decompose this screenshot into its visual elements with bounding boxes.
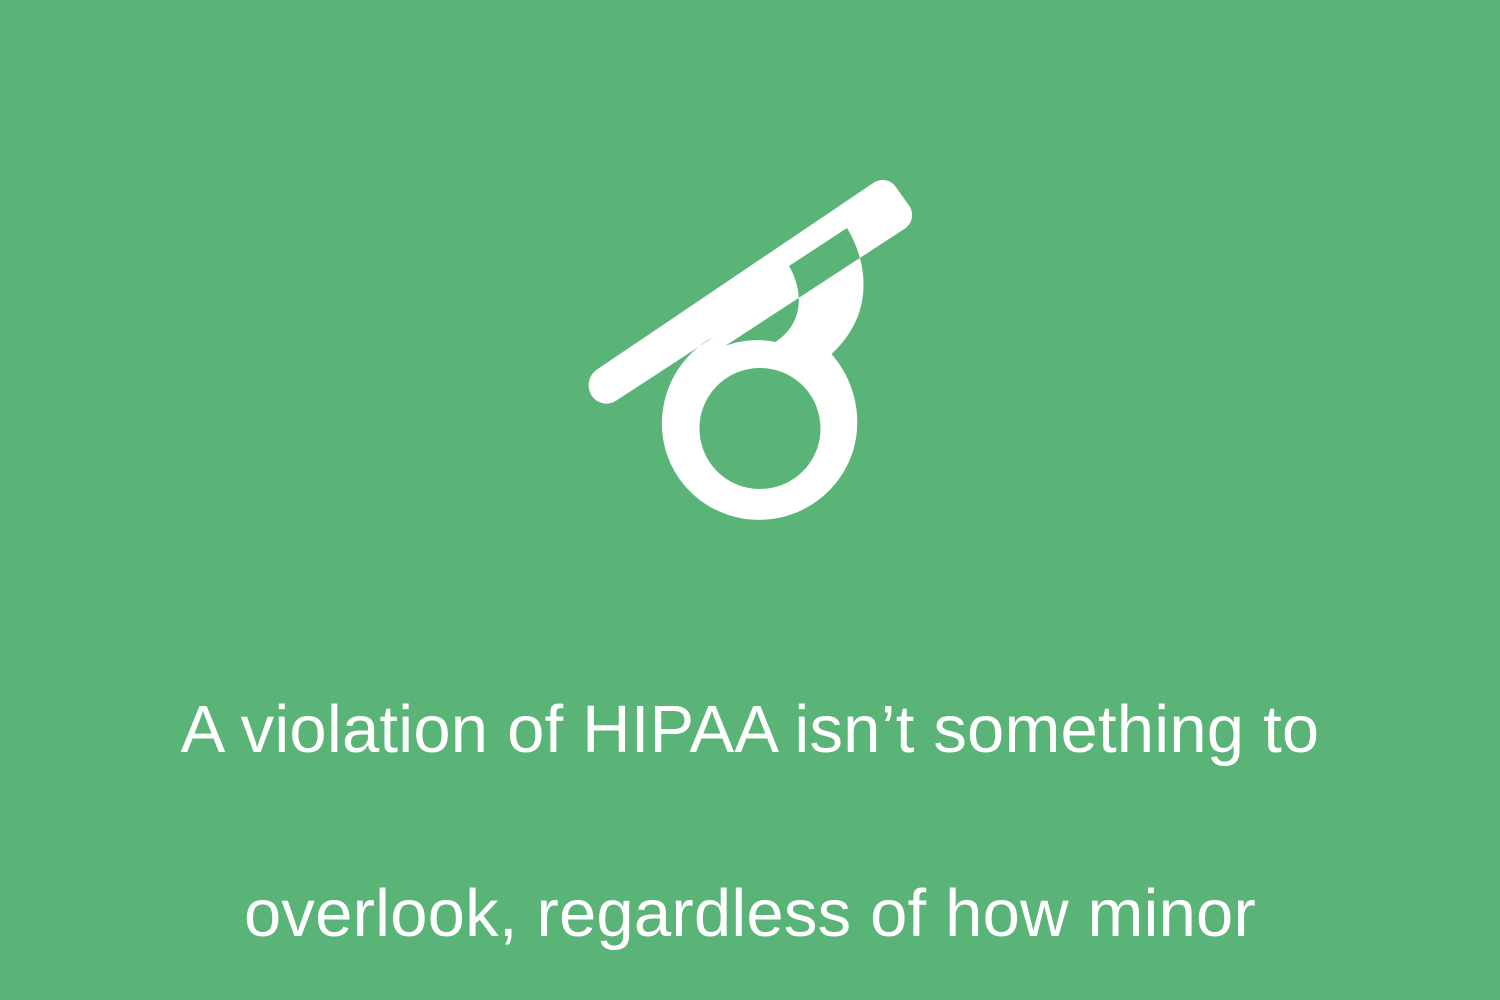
quote-line-2: overlook, regardless of how minor <box>80 868 1420 960</box>
quote-card: A violation of HIPAA isn’t something to … <box>0 0 1500 1000</box>
whistle-icon <box>585 170 915 520</box>
quote-text: A violation of HIPAA isn’t something to … <box>80 592 1420 1000</box>
whistle-icon-container <box>0 160 1500 530</box>
quote-line-1: A violation of HIPAA isn’t something to <box>80 684 1420 776</box>
